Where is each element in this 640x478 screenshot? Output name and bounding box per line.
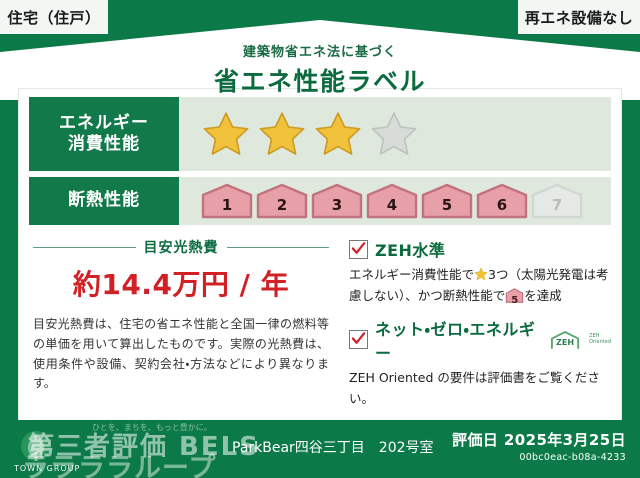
energy-label-root: 住宅（住戸） 再エネ設備なし 建築物省エネ法に基づく 省エネ性能ラベル エネルギ… bbox=[0, 0, 640, 478]
insulation-badge-7: 7 bbox=[531, 183, 583, 219]
insulation-badge-1: 1 bbox=[201, 183, 253, 219]
insulation-badge-value: 7 bbox=[552, 196, 562, 219]
check-icon bbox=[351, 331, 366, 346]
net-zero-energy-title: ネット・ゼロ・エネルギー bbox=[375, 316, 542, 364]
insulation-badge-value: 2 bbox=[277, 196, 287, 219]
title-subtitle: 建築物省エネ法に基づく bbox=[243, 41, 397, 60]
energy-cost-heading-text: 目安光熱費 bbox=[144, 237, 219, 257]
net-zero-energy-text: ZEH Oriented の要件は評価書をご覧ください。 bbox=[349, 367, 611, 410]
evaluation-id: 00bc0eac-b08a-4233 bbox=[452, 452, 626, 463]
tag-building-type-label: 住宅（住戸） bbox=[7, 7, 100, 28]
zeh-standard-heading: ZEH水準 bbox=[349, 237, 611, 261]
divider-line-left bbox=[33, 247, 136, 248]
energy-performance-label-line1: エネルギー bbox=[59, 113, 149, 134]
checkbox-net-zero-energy bbox=[349, 330, 368, 349]
label-card: エネルギー 消費性能 断熱性能 1234567 目安光熱費 bbox=[18, 88, 622, 422]
evaluation-date: 評価日 2025年3月25日 bbox=[452, 429, 626, 450]
energy-performance-label-line2: 消費性能 bbox=[68, 134, 140, 155]
insulation-badge-value: 1 bbox=[222, 196, 232, 219]
zeh-house-logo-icon: ZEH bbox=[549, 329, 581, 351]
tag-renewable-equipment: 再エネ設備なし bbox=[518, 0, 640, 34]
energy-performance-label: エネルギー 消費性能 bbox=[29, 97, 179, 171]
footer-watermark-brand-jp: ララララループ bbox=[22, 446, 216, 478]
insulation-badge-5: 5 bbox=[421, 183, 473, 219]
insulation-badge-2: 2 bbox=[256, 183, 308, 219]
insulation-level-badges: 1234567 bbox=[201, 183, 583, 219]
star-filled-icon bbox=[201, 110, 251, 158]
net-zero-energy-heading: ネット・ゼロ・エネルギー ZEH ZEH Oriented bbox=[349, 316, 611, 364]
insulation-performance-label-text: 断熱性能 bbox=[68, 190, 140, 211]
detail-columns: 目安光熱費 約14.4万円 / 年 目安光熱費は、住宅の省エネ性能と全国一律の燃… bbox=[19, 235, 621, 409]
insulation-badge-value: 4 bbox=[387, 196, 397, 219]
energy-performance-row: エネルギー 消費性能 bbox=[29, 97, 611, 171]
star-rating bbox=[201, 110, 419, 158]
insulation-badge-value: 3 bbox=[332, 196, 342, 219]
star-empty-icon bbox=[369, 110, 419, 158]
svg-text:ZEH: ZEH bbox=[556, 338, 574, 347]
check-icon bbox=[351, 241, 366, 256]
insulation-badge-value: 6 bbox=[497, 196, 507, 219]
property-address: ParkBear四谷三丁目 202号室 bbox=[232, 437, 434, 457]
zeh-logo-caption: ZEH Oriented bbox=[589, 334, 611, 345]
title-main: 省エネ性能ラベル bbox=[214, 62, 426, 98]
energy-cost-value: 約14.4万円 / 年 bbox=[33, 263, 329, 303]
zeh-column: ZEH水準 エネルギー消費性能で3つ（太陽光発電は考慮しない）、かつ断熱性能で5… bbox=[341, 235, 621, 409]
inline-insulation-badge: 5 bbox=[505, 288, 524, 303]
energy-cost-column: 目安光熱費 約14.4万円 / 年 目安光熱費は、住宅の省エネ性能と全国一律の燃… bbox=[19, 235, 341, 409]
insulation-badge-value: 5 bbox=[442, 196, 452, 219]
star-filled-icon bbox=[313, 110, 363, 158]
evaluation-info: 評価日 2025年3月25日 00bc0eac-b08a-4233 bbox=[452, 429, 626, 463]
inline-insulation-badge-value: 5 bbox=[511, 295, 518, 306]
insulation-performance-row: 断熱性能 1234567 bbox=[29, 177, 611, 225]
zeh-standard-text-part3: を達成 bbox=[524, 288, 562, 303]
energy-performance-body bbox=[179, 97, 611, 171]
zeh-standard-text: エネルギー消費性能で3つ（太陽光発電は考慮しない）、かつ断熱性能で5を達成 bbox=[349, 264, 611, 307]
footer-bar: TOWN GROUP ひとを、まちを、もっと豊かに。 第三者評価 BELS ララ… bbox=[0, 420, 640, 478]
tag-building-type: 住宅（住戸） bbox=[0, 0, 108, 34]
insulation-badge-6: 6 bbox=[476, 183, 528, 219]
divider-line-right bbox=[227, 247, 330, 248]
zeh-logo-caption-line2: Oriented bbox=[589, 339, 611, 345]
zeh-standard-text-part1: エネルギー消費性能で bbox=[349, 267, 474, 282]
tag-renewable-equipment-label: 再エネ設備なし bbox=[525, 7, 634, 28]
energy-cost-note: 目安光熱費は、住宅の省エネ性能と全国一律の燃料等の単価を用いて算出したものです。… bbox=[33, 315, 329, 394]
star-filled-icon bbox=[257, 110, 307, 158]
label-title-block: 建築物省エネ法に基づく 省エネ性能ラベル bbox=[0, 34, 640, 96]
insulation-performance-label: 断熱性能 bbox=[29, 177, 179, 225]
insulation-badge-3: 3 bbox=[311, 183, 363, 219]
zeh-standard-title: ZEH水準 bbox=[375, 237, 445, 261]
energy-cost-heading: 目安光熱費 bbox=[33, 237, 329, 257]
checkbox-zeh-standard bbox=[349, 240, 368, 259]
inline-star-icon bbox=[474, 267, 488, 281]
insulation-performance-body: 1234567 bbox=[179, 177, 611, 225]
insulation-badge-4: 4 bbox=[366, 183, 418, 219]
